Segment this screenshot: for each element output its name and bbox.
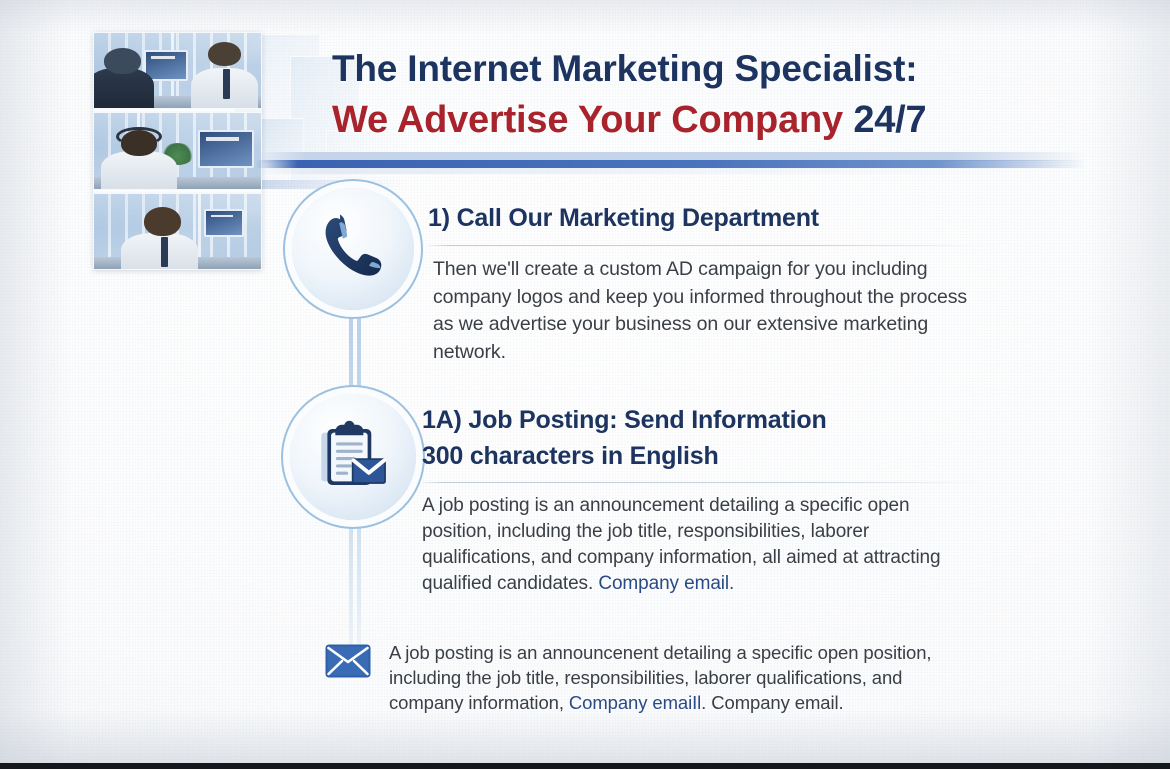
step-1-paragraph: Then we'll create a custom AD campaign f… <box>428 256 988 366</box>
title-line-2-main: We Advertise Your Company <box>332 99 853 141</box>
step-1-rule <box>428 245 988 246</box>
title-line-1: The Internet Marketing Specialist: <box>332 44 926 94</box>
footnote-text-after: Company email. <box>706 692 843 713</box>
divider-blue-bar <box>256 160 1086 168</box>
step-1-body: 1) Call Our Marketing Department Then we… <box>428 200 988 366</box>
step-2-badge <box>290 394 416 520</box>
necktie <box>223 69 230 99</box>
divider-fade-band <box>256 168 1086 174</box>
step-2-heading-line-1: 1A) Job Posting: Send Information <box>422 402 982 438</box>
step-2-paragraph: A job posting is an announcement detaili… <box>422 493 982 597</box>
envelope-icon[interactable] <box>325 644 371 683</box>
phone-icon <box>316 212 390 286</box>
step-2-company-email-link[interactable]: Company email. <box>598 573 734 594</box>
step-1-badge <box>292 188 414 310</box>
step-2-body: 1A) Job Posting: Send Information 300 ch… <box>422 402 982 597</box>
clipboard-mail-icon <box>314 418 392 496</box>
person-torso <box>121 233 198 270</box>
page-title: The Internet Marketing Specialist: We Ad… <box>332 44 926 146</box>
photo-collage <box>93 32 262 270</box>
bottom-border-strip <box>0 763 1170 769</box>
person-head <box>104 48 141 74</box>
collage-photo-2 <box>93 112 262 189</box>
necktie <box>161 237 168 267</box>
footnote-company-email-link[interactable]: Company emaiIl. <box>569 692 706 713</box>
person-head <box>208 42 241 66</box>
slide-canvas: The Internet Marketing Specialist: We Ad… <box>0 0 1170 769</box>
monitor <box>198 130 255 168</box>
header-divider <box>256 152 1086 174</box>
footnote-block: A job posting is an announcenent detaili… <box>325 640 965 715</box>
person-head <box>144 207 181 236</box>
monitor <box>204 209 244 238</box>
person-torso <box>101 151 178 190</box>
collage-photo-1 <box>93 32 262 109</box>
step-2-rule <box>422 482 982 483</box>
title-line-2: We Advertise Your Company 24/7 <box>332 94 926 146</box>
collage-photo-3 <box>93 193 262 270</box>
step-1-heading: 1) Call Our Marketing Department <box>428 200 988 236</box>
footnote-text: A job posting is an announcenent detaili… <box>389 640 965 715</box>
step-2-heading-line-2: 300 characters in English <box>422 438 982 474</box>
title-line-2-accent: 24/7 <box>853 99 926 141</box>
person-torso <box>93 68 154 110</box>
